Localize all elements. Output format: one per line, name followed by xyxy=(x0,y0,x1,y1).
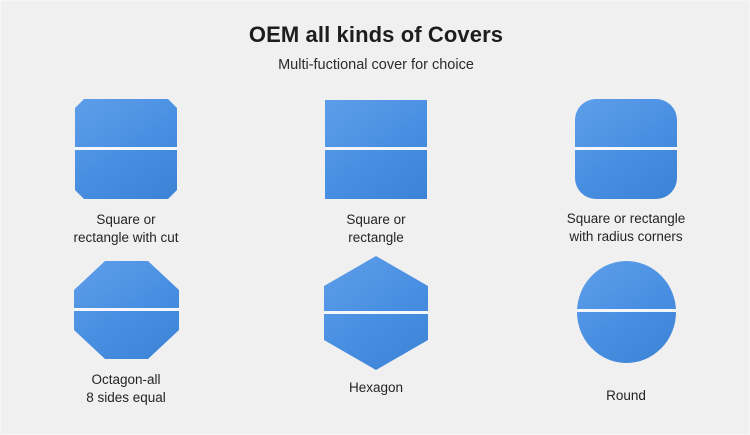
shape-figure-hexagon xyxy=(323,254,429,372)
caption-line-2: rectangle with cut xyxy=(73,230,178,245)
octagonal-square-shape-icon xyxy=(75,99,177,199)
shape-card-round: Round xyxy=(501,247,750,407)
caption-line-2: 8 sides equal xyxy=(86,390,166,405)
shape-figure-radius-corners xyxy=(573,96,679,202)
shape-grid: Square orrectangle with cut Squ xyxy=(1,89,750,407)
rectangle-shape-icon xyxy=(325,100,427,199)
shape-figure-octagon xyxy=(73,259,179,361)
shape-card-square-or-rectangle: Square orrectangle xyxy=(251,89,501,247)
shape-caption-hexagon: Hexagon xyxy=(349,379,403,397)
caption-line-2: with radius corners xyxy=(569,229,682,244)
rounded-rectangle-shape-icon xyxy=(575,99,677,199)
shape-caption-round: Round xyxy=(606,387,646,405)
shape-figure-square-or-rectangle xyxy=(323,96,429,202)
caption-line-1: Hexagon xyxy=(349,380,403,395)
shape-caption-radius-corners: Square or rectanglewith radius corners xyxy=(567,210,686,246)
caption-line-1: Square or rectangle xyxy=(567,211,686,226)
shape-card-radius-corners: Square or rectanglewith radius corners xyxy=(501,89,750,247)
caption-line-1: Round xyxy=(606,388,646,403)
hexagon-shape-icon xyxy=(324,256,428,370)
page-subtitle: Multi-fuctional cover for choice xyxy=(1,54,750,76)
caption-line-1: Square or xyxy=(96,212,155,227)
shape-caption-square-with-cut: Square orrectangle with cut xyxy=(73,211,178,247)
octagon-shape-icon xyxy=(74,261,179,359)
shape-caption-square-or-rectangle: Square orrectangle xyxy=(346,211,405,247)
product-spec-banner: OEM all kinds of Covers Multi-fuctional … xyxy=(0,0,750,435)
shape-card-hexagon: Hexagon xyxy=(251,247,501,407)
caption-line-2: rectangle xyxy=(348,230,404,245)
shape-figure-round xyxy=(573,259,679,365)
banner-header: OEM all kinds of Covers Multi-fuctional … xyxy=(1,21,750,76)
shape-card-square-with-cut: Square orrectangle with cut xyxy=(1,89,251,247)
page-title: OEM all kinds of Covers xyxy=(1,21,750,49)
circle-shape-icon xyxy=(577,261,676,363)
caption-line-1: Octagon-all xyxy=(91,372,160,387)
shape-figure-square-with-cut xyxy=(73,96,179,202)
shape-caption-octagon: Octagon-all8 sides equal xyxy=(86,371,166,407)
caption-line-1: Square or xyxy=(346,212,405,227)
shape-card-octagon: Octagon-all8 sides equal xyxy=(1,247,251,407)
